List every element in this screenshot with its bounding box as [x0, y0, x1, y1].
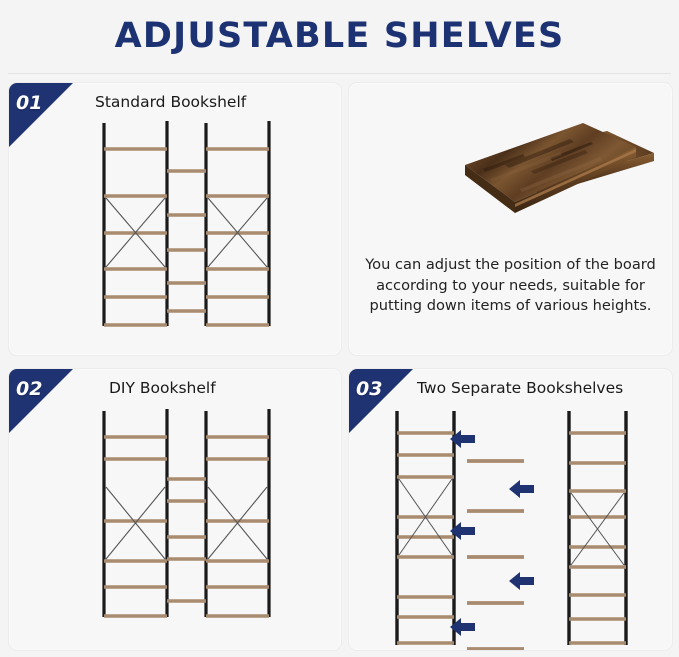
illustration-diy-bookshelf — [9, 369, 341, 650]
title-bar: ADJUSTABLE SHELVES — [0, 0, 679, 72]
illustration-two-separate-bookshelves — [349, 369, 672, 650]
panel-board-info: You can adjust the position of the board… — [348, 82, 673, 356]
panel-two-separate-bookshelves: 03 Two Separate Bookshelves — [348, 368, 673, 651]
panel-standard-bookshelf: 01 Standard Bookshelf — [8, 82, 342, 356]
wood-board-upper — [465, 123, 636, 213]
page-title: ADJUSTABLE SHELVES — [115, 19, 565, 54]
wood-board-illustration — [355, 109, 666, 257]
illustration-standard-bookshelf — [9, 83, 341, 355]
panel-diy-bookshelf: 02 DIY Bookshelf — [8, 368, 342, 651]
infographic-page: ADJUSTABLE SHELVES 01 Standard Bookshelf — [0, 0, 679, 657]
title-divider — [8, 73, 671, 74]
wooden-boards-svg — [355, 109, 666, 257]
board-caption: You can adjust the position of the board… — [365, 255, 656, 317]
